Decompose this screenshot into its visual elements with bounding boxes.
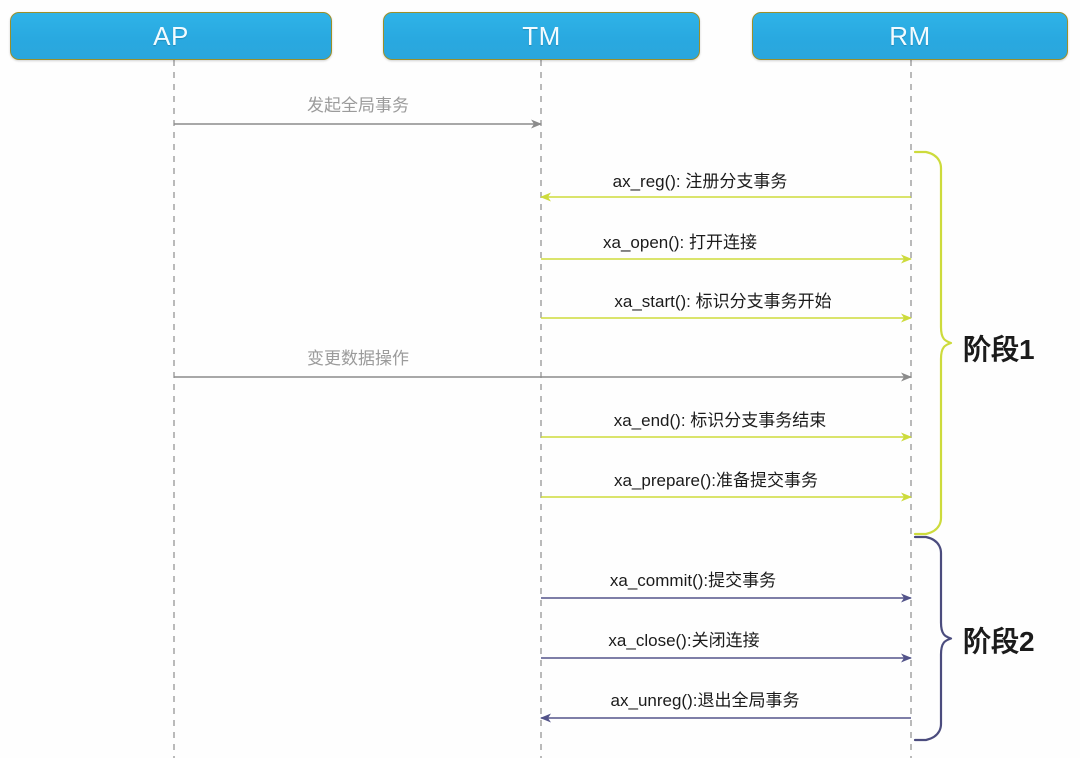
actor-box-ap[interactable]: AP xyxy=(10,12,332,60)
phase-label-phase2: 阶段2 xyxy=(963,620,1035,660)
actor-box-tm[interactable]: TM xyxy=(383,12,700,60)
message-label-m4: xa_start(): 标识分支事务开始 xyxy=(614,293,831,310)
actor-label-ap: AP xyxy=(153,21,189,52)
phase-braces-group xyxy=(915,152,951,740)
message-label-m1: 发起全局事务 xyxy=(307,97,409,114)
message-label-m7: xa_prepare():准备提交事务 xyxy=(614,472,818,489)
phase-brace-phase1 xyxy=(915,152,951,534)
message-label-m6: xa_end(): 标识分支事务结束 xyxy=(614,412,827,429)
message-label-m10: ax_unreg():退出全局事务 xyxy=(611,692,800,709)
actor-label-rm: RM xyxy=(889,21,930,52)
actor-box-rm[interactable]: RM xyxy=(752,12,1068,60)
message-label-m9: xa_close():关闭连接 xyxy=(608,632,759,649)
message-label-m5: 变更数据操作 xyxy=(307,350,409,367)
phase-label-phase1: 阶段1 xyxy=(963,328,1035,368)
message-label-m2: ax_reg(): 注册分支事务 xyxy=(613,173,788,190)
sequence-diagram-canvas: APTMRM 发起全局事务ax_reg(): 注册分支事务xa_open(): … xyxy=(0,0,1080,758)
lifelines-group xyxy=(174,60,911,758)
diagram-vector-layer xyxy=(0,0,1080,758)
message-label-m3: xa_open(): 打开连接 xyxy=(603,234,757,251)
phase-brace-phase2 xyxy=(915,537,951,740)
actor-label-tm: TM xyxy=(522,21,561,52)
message-label-m8: xa_commit():提交事务 xyxy=(610,572,776,589)
